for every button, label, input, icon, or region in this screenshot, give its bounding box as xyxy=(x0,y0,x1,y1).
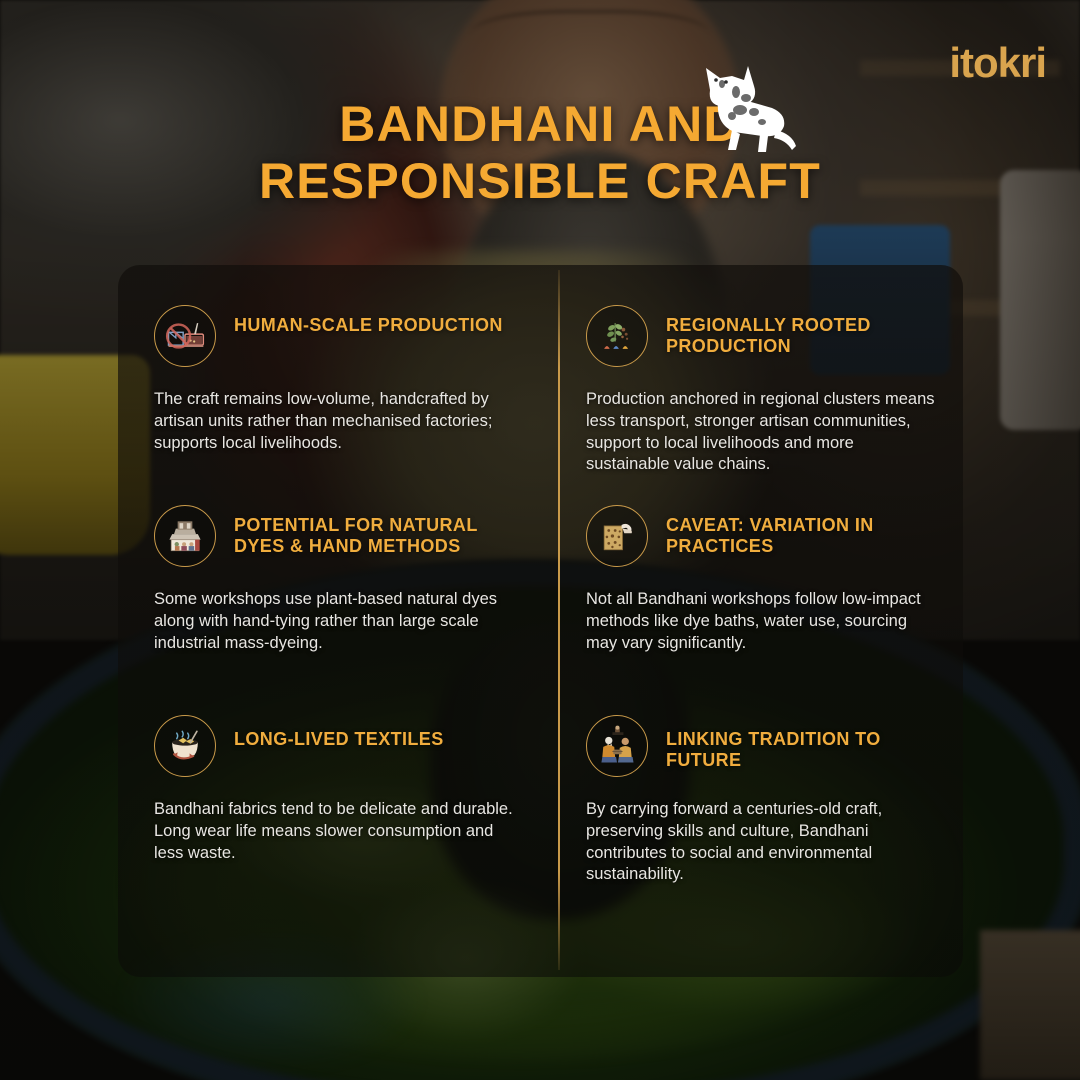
card-human-scale-production: HUMAN-SCALE PRODUCTION The craft remains… xyxy=(118,265,558,465)
card-header: HUMAN-SCALE PRODUCTION xyxy=(154,305,518,367)
two-artisans-icon xyxy=(586,715,648,777)
card-header: POTENTIAL FOR NATURAL DYES & HAND METHOD… xyxy=(154,505,518,567)
hand-holding-bandhani-fabric-icon xyxy=(586,505,648,567)
page-title-text: BANDHANI ANDRESPONSIBLE CRAFT xyxy=(0,96,1080,209)
card-title: POTENTIAL FOR NATURAL DYES & HAND METHOD… xyxy=(234,505,518,557)
card-body: Not all Bandhani workshops follow low-im… xyxy=(586,589,939,654)
card-linking-tradition-to-future: LINKING TRADITION TO FUTURE By carrying … xyxy=(558,675,963,885)
page-title-line-1: BANDHANI AND xyxy=(339,96,740,152)
natural-dye-plants-icon xyxy=(586,305,648,367)
artisan-workshop-building-icon xyxy=(154,505,216,567)
card-header: CAVEAT: VARIATION IN PRACTICES xyxy=(586,505,939,567)
card-body: Production anchored in regional clusters… xyxy=(586,389,939,476)
card-caveat-variation-in-practices: CAVEAT: VARIATION IN PRACTICES Not all B… xyxy=(558,465,963,675)
card-body: By carrying forward a centuries-old craf… xyxy=(586,799,939,886)
card-body: Bandhani fabrics tend to be delicate and… xyxy=(154,799,518,864)
card-header: LONG-LIVED TEXTILES xyxy=(154,715,518,777)
card-title: REGIONALLY ROOTED PRODUCTION xyxy=(666,305,939,357)
card-natural-dyes-hand-methods: POTENTIAL FOR NATURAL DYES & HAND METHOD… xyxy=(118,465,558,675)
white-cat-icon xyxy=(688,54,800,162)
steaming-dye-pot-recycle-icon xyxy=(154,715,216,777)
card-header: LINKING TRADITION TO FUTURE xyxy=(586,715,939,777)
card-title: CAVEAT: VARIATION IN PRACTICES xyxy=(666,505,939,557)
card-regionally-rooted-production: REGIONALLY ROOTED PRODUCTION Production … xyxy=(558,265,963,465)
no-factory-icon xyxy=(154,305,216,367)
card-body: Some workshops use plant-based natural d… xyxy=(154,589,518,654)
card-title: HUMAN-SCALE PRODUCTION xyxy=(234,305,503,336)
points-grid: HUMAN-SCALE PRODUCTION The craft remains… xyxy=(118,265,963,977)
card-long-lived-textiles: LONG-LIVED TEXTILES Bandhani fabrics ten… xyxy=(118,675,558,885)
infographic-canvas: itokri BANDHANI ANDRESPONSIBLE CRAFT xyxy=(0,0,1080,1080)
card-header: REGIONALLY ROOTED PRODUCTION xyxy=(586,305,939,367)
itokri-logo[interactable]: itokri xyxy=(949,42,1046,84)
card-title: LINKING TRADITION TO FUTURE xyxy=(666,715,939,771)
card-title: LONG-LIVED TEXTILES xyxy=(234,715,444,750)
card-body: The craft remains low-volume, handcrafte… xyxy=(154,389,518,454)
page-title: BANDHANI ANDRESPONSIBLE CRAFT xyxy=(0,96,1080,209)
